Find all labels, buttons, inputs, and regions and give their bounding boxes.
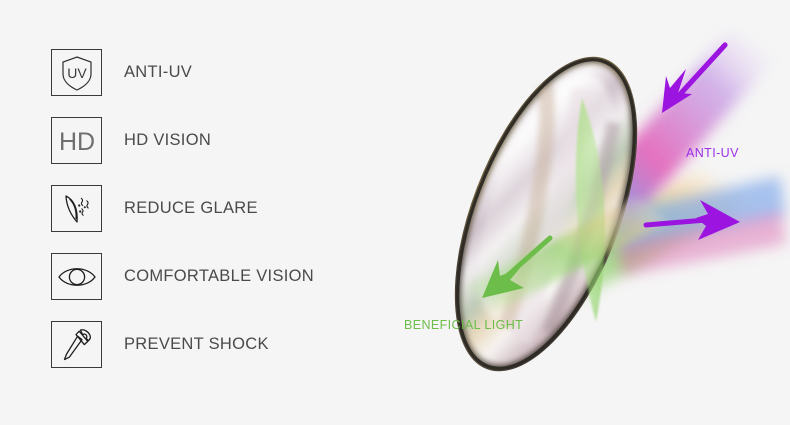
feature-item-hd-vision[interactable]: HD HD VISION	[51, 117, 401, 164]
feature-label-reduce-glare: REDUCE GLARE	[124, 199, 258, 218]
eye-icon	[56, 262, 98, 292]
uv-shield-icon: UV	[57, 54, 97, 92]
lens-diagram-svg	[400, 0, 790, 425]
feature-label-hd-vision: HD VISION	[124, 131, 211, 150]
label-anti-uv: ANTI-UV	[686, 146, 739, 160]
feature-item-reduce-glare[interactable]: REDUCE GLARE	[51, 185, 401, 232]
icon-box-comfortable-vision	[51, 253, 102, 300]
icon-box-anti-uv: UV	[51, 49, 102, 96]
coated-lens-light-diagram: ANTI-UV BENEFICIAL LIGHT	[400, 0, 790, 425]
feature-label-comfortable-vision: COMFORTABLE VISION	[124, 267, 314, 286]
feature-label-prevent-shock: PREVENT SHOCK	[124, 335, 269, 354]
icon-box-reduce-glare	[51, 185, 102, 232]
label-beneficial-light: BENEFICIAL LIGHT	[404, 318, 523, 332]
feature-item-comfortable-vision[interactable]: COMFORTABLE VISION	[51, 253, 401, 300]
uv-icon-text: UV	[67, 65, 87, 81]
icon-box-prevent-shock	[51, 321, 102, 368]
feature-label-anti-uv: ANTI-UV	[124, 63, 192, 82]
icon-box-hd-vision: HD	[51, 117, 102, 164]
hd-icon-text: HD	[58, 128, 94, 156]
hd-text-icon: HD	[55, 124, 99, 158]
feature-list: UV ANTI-UV HD HD VISION REDUCE GLA	[51, 49, 401, 368]
glare-shield-icon	[57, 191, 97, 227]
hammer-icon	[57, 326, 97, 364]
feature-item-prevent-shock[interactable]: PREVENT SHOCK	[51, 321, 401, 368]
feature-item-anti-uv[interactable]: UV ANTI-UV	[51, 49, 401, 96]
